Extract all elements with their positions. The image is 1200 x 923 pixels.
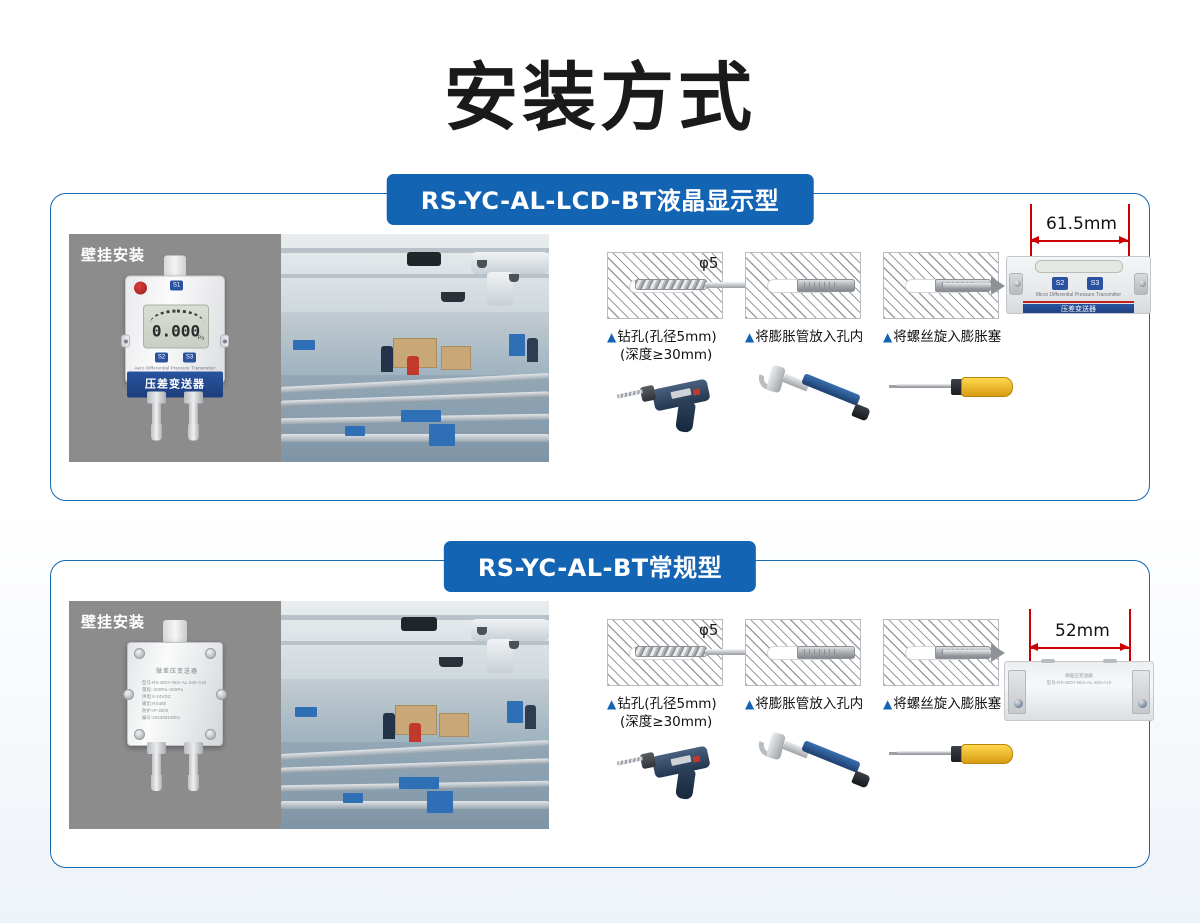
port-right [184,742,203,792]
bullet-triangle-icon: ▲ [883,697,892,711]
hammer-icon [755,731,875,803]
lcd-screen-strip [1035,260,1123,273]
mount-label-lcd: 壁挂安装 [81,244,145,265]
corner-screw [205,729,216,740]
device-housing: 微差压变送器 型号:RS-WDY-N01-AL-200-A10 量程:-200P… [127,642,223,746]
strip-english-name: Micro Differential Pressure Transmitter [1007,292,1150,298]
nameplate-line: 量程:-200Pa~200Pa [142,686,212,693]
corner-screw [134,729,145,740]
strip-chinese-name: 微差压变送器 [1035,672,1123,679]
product-photo-lcd: 壁挂安装 S1 0.000 Pa S2 S3 Aero Differentia [69,234,281,462]
installation-steps-lcd: φ5 ▲钻孔(孔径5mm) (深度≥30mm) [589,234,1019,462]
strip-nameplate: 微差压变送器 型号:RS-WDY-N01-AL-200-A10 [1035,672,1123,686]
bullet-triangle-icon: ▲ [745,697,754,711]
hole-diameter-label: φ5 [699,621,718,639]
installation-steps-standard: φ5 ▲钻孔(孔径5mm) (深度≥30mm) [589,601,1019,829]
side-mount-hole [123,689,134,700]
button-s3: S3 [183,353,196,363]
bullet-triangle-icon: ▲ [883,330,892,344]
step-1-caption-line2: (深度≥30mm) [607,713,712,731]
dimension-value-lcd: 61.5mm [1046,214,1117,234]
corner-screw [134,648,145,659]
side-mount-hole [216,689,227,700]
mounting-hole-right [1132,670,1150,714]
step-3-caption-line1: 将螺丝旋入膨胀塞 [893,329,1001,345]
hammer-icon [755,364,875,436]
factory-photo-lcd [281,234,549,462]
pressure-ports [144,742,206,792]
strip-chinese-name: 压差变送器 [1023,304,1134,314]
mounting-ear-left [121,335,130,348]
nameplate-title: 微差压变送器 [142,669,212,676]
product-card-standard: RS-YC-AL-BT常规型 壁挂安装 微差压变送器 [50,560,1150,868]
step-2-caption-line1: 将膨胀管放入孔内 [755,329,863,345]
screwdriver-icon [889,372,1019,412]
bullet-triangle-icon: ▲ [607,697,616,711]
nameplate-line: 型号:RS-WDY-N01-AL-200-A10 [142,679,212,686]
page-title: 安装方式 [0,38,1200,145]
strip-model: 型号:RS-WDY-N01-AL-200-A10 [1035,679,1123,686]
button-s1: S1 [170,281,183,291]
port-left [147,742,166,792]
pressure-ports [144,392,206,442]
step-3-caption-line1: 将螺丝旋入膨胀塞 [893,696,1001,712]
dimension-value-standard: 52mm [1055,621,1110,641]
product-card-lcd: RS-YC-AL-LCD-BT液晶显示型 壁挂安装 S1 0.000 Pa [50,193,1150,501]
step-2-caption-line1: 将膨胀管放入孔内 [755,696,863,712]
brand-logo [134,282,147,295]
port-right [184,392,203,442]
bullet-triangle-icon: ▲ [745,330,754,344]
button-s2: S2 [155,353,168,363]
step-1-caption-line1: 钻孔(孔径5mm) [617,696,716,712]
device-english-name: Aero Differential Pressure Transmitter [126,366,224,371]
screwdriver-icon [889,739,1019,779]
device-nameplate: 微差压变送器 型号:RS-WDY-N01-AL-200-A10 量程:-200P… [142,669,212,721]
dimension-callout-standard: 52mm 微差压变送器 型号:RS-WDY-N01-AL-200-A10 [999,609,1159,729]
hole-diameter-label: φ5 [699,254,718,272]
drill-icon [615,737,725,807]
nameplate-line: 编号:20230915001 [142,714,212,721]
strip-button-s3: S3 [1087,277,1103,290]
box-transmitter-illustration: 微差压变送器 型号:RS-WDY-N01-AL-200-A10 量程:-200P… [119,620,231,810]
nameplate-line: 防护:IP-3000 [142,707,212,714]
step-1-caption-line2: (深度≥30mm) [607,346,712,364]
bullet-triangle-icon: ▲ [607,330,616,344]
lcd-unit: Pa [198,336,204,342]
product-photo-standard: 壁挂安装 微差压变送器 型号:RS-WDY-N01-AL-200-A10 [69,601,281,829]
nameplate-line: 供电:9-24VDC [142,693,212,700]
dimension-callout-lcd: 61.5mm S2 S3 Micro Differential Pressure… [1006,204,1156,334]
lcd-screen: 0.000 Pa [143,305,209,349]
step-1-caption-line1: 钻孔(孔径5mm) [617,329,716,345]
mount-label-standard: 壁挂安装 [81,611,145,632]
mounting-hole-left [1008,670,1026,714]
port-left [147,392,166,442]
nameplate-line: 输出:RS485 [142,700,212,707]
installation-guide-page: 安装方式 RS-YC-AL-LCD-BT液晶显示型 壁挂安装 S1 0.000 … [0,0,1200,923]
device-housing: S1 0.000 Pa S2 S3 Aero Differential Pres… [125,276,225,384]
drill-icon [615,370,725,440]
strip-button-s2: S2 [1052,277,1068,290]
corner-screw [205,648,216,659]
factory-photo-standard [281,601,549,829]
mounting-ear-right [220,335,229,348]
lcd-transmitter-illustration: S1 0.000 Pa S2 S3 Aero Differential Pres… [121,256,229,441]
